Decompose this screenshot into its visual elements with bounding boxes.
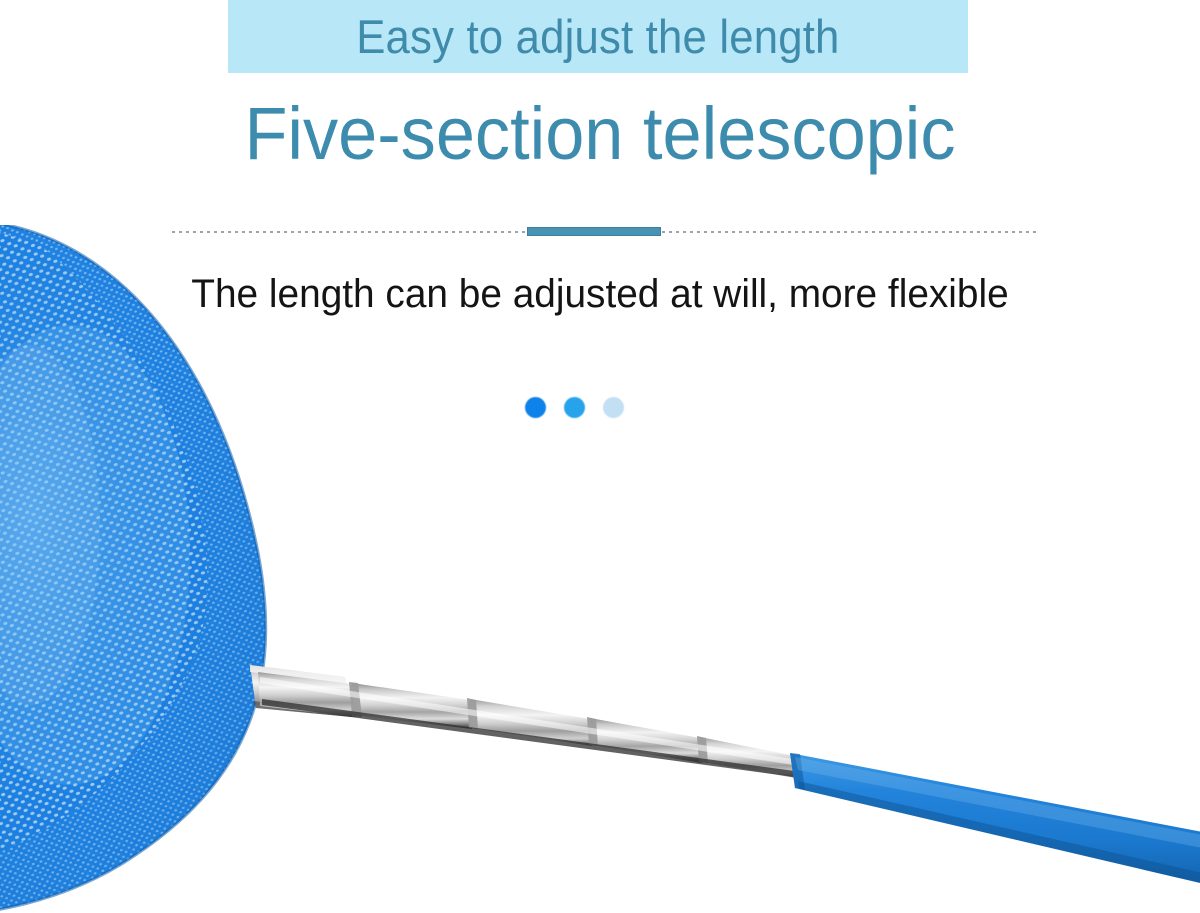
dot-faint-icon [603, 397, 624, 418]
eyebrow-text: Easy to adjust the length [356, 9, 839, 64]
subtitle-text: The length can be adjusted at will, more… [18, 272, 1182, 317]
fishing-net-bowl [0, 225, 320, 913]
eyebrow-banner: Easy to adjust the length [228, 0, 968, 73]
section-divider [172, 227, 1038, 237]
page-title: Five-section telescopic [30, 96, 1170, 173]
telescopic-pole [258, 672, 802, 779]
dot-active-icon [525, 397, 546, 418]
dot-mid-icon [564, 397, 585, 418]
product-feature-banner: Easy to adjust the length Five-section t… [0, 0, 1200, 913]
decorative-dots [525, 395, 645, 419]
product-photo [0, 225, 1200, 913]
foam-handle-grip [790, 753, 1200, 897]
divider-accent-bar [527, 227, 661, 236]
